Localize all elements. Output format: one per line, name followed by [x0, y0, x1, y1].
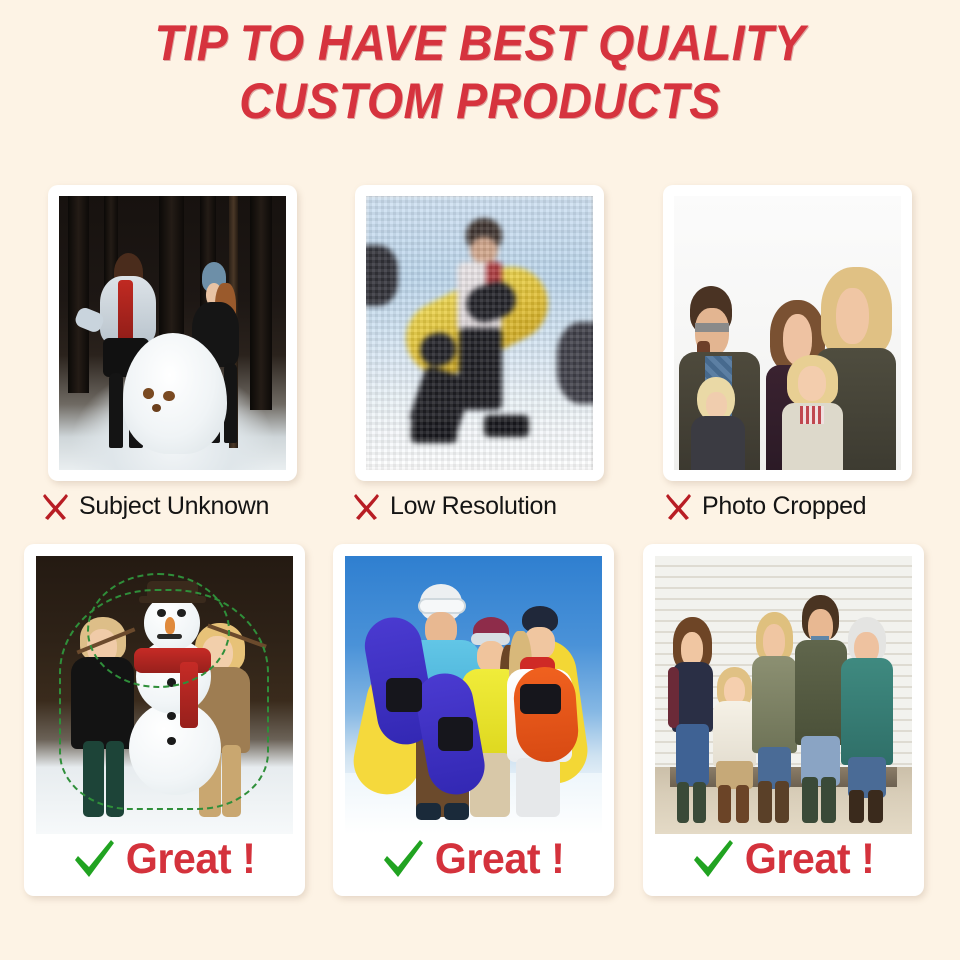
bad-example-card-subject-unknown: [48, 185, 297, 481]
photo-low-resolution: [366, 196, 593, 470]
check-mark-icon: [690, 836, 736, 882]
page-title-line-2: CUSTOM PRODUCTS: [34, 72, 927, 130]
photo-snowboarders: [345, 556, 602, 834]
bad-examples-row: Subject Unknown Low Resolution Photo Cro…: [0, 178, 960, 538]
infographic-page: TIP TO HAVE BEST QUALITY CUSTOM PRODUCTS: [0, 0, 960, 960]
examples-grid: Subject Unknown Low Resolution Photo Cro…: [0, 178, 960, 918]
bad-label-subject-unknown: Subject Unknown: [42, 491, 269, 521]
bad-label-text: Photo Cropped: [702, 492, 866, 521]
good-label-text: Great !: [126, 835, 256, 884]
check-mark-icon: [71, 836, 117, 882]
bad-example-card-low-resolution: [355, 185, 604, 481]
page-title: TIP TO HAVE BEST QUALITY CUSTOM PRODUCTS: [0, 14, 960, 130]
good-label-banner: Great !: [643, 824, 924, 894]
bad-label-low-resolution: Low Resolution: [353, 491, 557, 521]
bad-label-text: Low Resolution: [390, 492, 557, 521]
check-mark-icon: [380, 836, 426, 882]
bad-example-card-photo-cropped: [663, 185, 912, 481]
page-title-line-1: TIP TO HAVE BEST QUALITY: [34, 14, 927, 72]
bad-label-text: Subject Unknown: [79, 492, 269, 521]
photo-subject-unknown: [59, 196, 286, 470]
x-mark-icon: [42, 491, 70, 521]
x-mark-icon: [353, 491, 381, 521]
bad-label-photo-cropped: Photo Cropped: [665, 491, 866, 521]
photo-family-group: [655, 556, 912, 834]
good-example-card-snowboarders: Great !: [333, 544, 614, 896]
photo-photo-cropped: [674, 196, 901, 470]
good-examples-row: Great !: [0, 538, 960, 918]
good-example-card-selection-outline: Great !: [24, 544, 305, 896]
x-mark-icon: [665, 491, 693, 521]
good-label-banner: Great !: [333, 824, 614, 894]
photo-snowman-with-selection: [36, 556, 293, 834]
good-example-card-family-group: Great !: [643, 544, 924, 896]
good-label-banner: Great !: [24, 824, 305, 894]
good-label-text: Great !: [745, 835, 875, 884]
good-label-text: Great !: [435, 835, 565, 884]
